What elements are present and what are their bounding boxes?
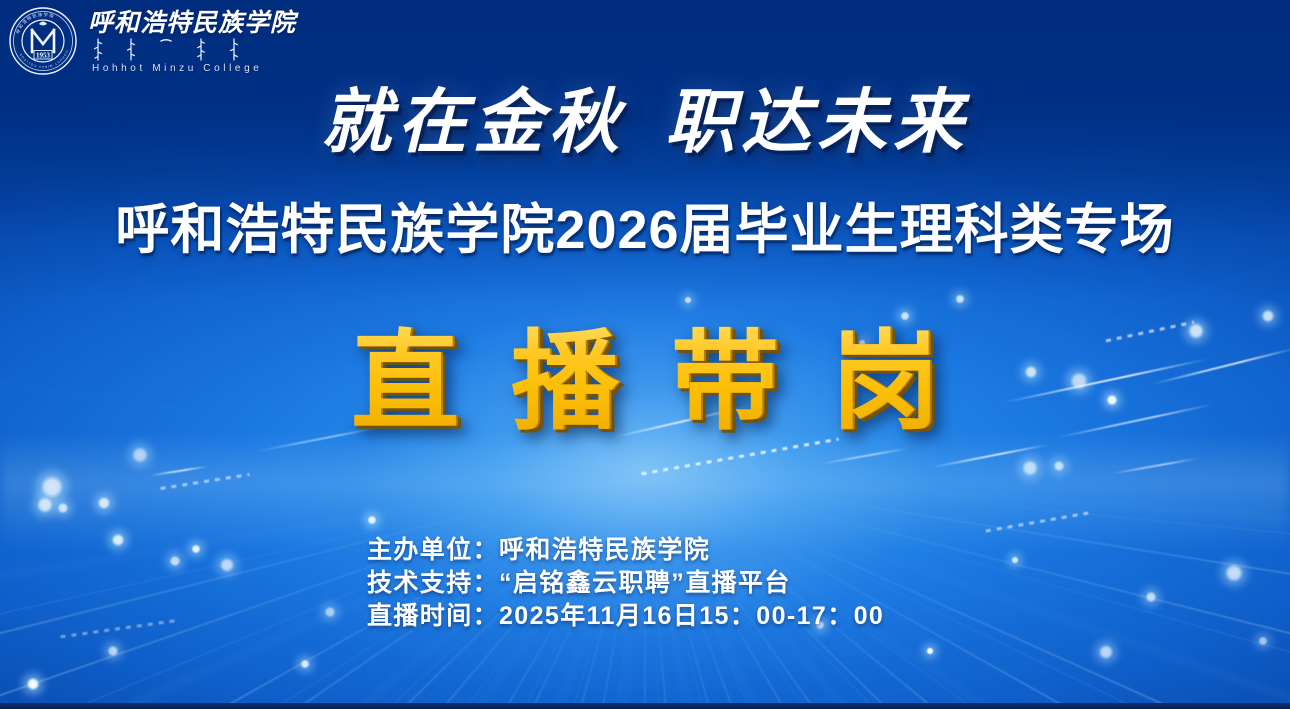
university-logo: 呼和浩特民族学院 HOHHOT MINZU COLLEGE 1953 呼和浩特民… <box>8 6 296 76</box>
gold-char-1: 直 <box>351 326 459 438</box>
event-info-block: 主办单位：呼和浩特民族学院 技术支持：“启铭鑫云职聘”直播平台 直播时间：202… <box>367 534 884 633</box>
livestream-poster: 呼和浩特民族学院 HOHHOT MINZU COLLEGE 1953 呼和浩特民… <box>0 0 1290 709</box>
university-seal-icon: 呼和浩特民族学院 HOHHOT MINZU COLLEGE 1953 <box>8 6 78 76</box>
info-line-tech-support: 技术支持：“启铭鑫云职聘”直播平台 <box>367 567 884 599</box>
info-line-organizer: 主办单位：呼和浩特民族学院 <box>367 534 884 566</box>
info-line-broadcast-time: 直播时间：2025年11月16日15：00-17：00 <box>367 600 884 632</box>
slogan-headline: 就在金秋职达未来 <box>0 84 1290 164</box>
svg-text:1953: 1953 <box>36 51 51 59</box>
gold-char-3: 带 <box>671 326 779 438</box>
logo-name-cn: 呼和浩特民族学院 <box>88 10 296 37</box>
slogan-part-2: 职达未来 <box>665 85 969 162</box>
gold-char-2: 播 <box>511 326 619 438</box>
slogan-part-1: 就在金秋 <box>321 85 625 162</box>
event-subtitle: 呼和浩特民族学院2026届毕业生理科类专场 <box>0 197 1290 263</box>
gold-char-4: 岗 <box>831 326 939 438</box>
bottom-edge-rule <box>0 703 1290 709</box>
logo-mongolian-script <box>88 38 296 62</box>
svg-text:呼和浩特民族学院: 呼和浩特民族学院 <box>14 11 55 34</box>
logo-name-en: Hohhot Minzu College <box>88 63 296 74</box>
gold-headline: 直播带岗 <box>0 326 1290 438</box>
